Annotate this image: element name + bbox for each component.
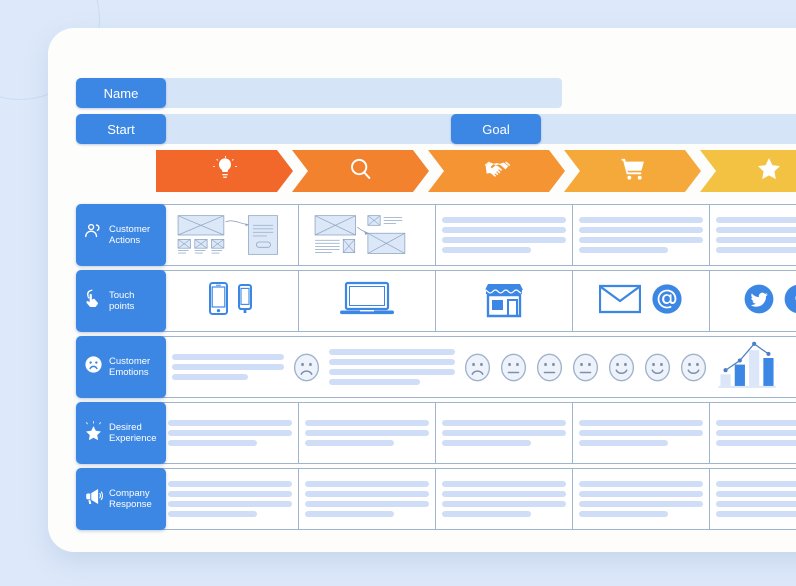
placeholder-line [305,440,394,446]
placeholder-line [305,491,429,497]
stage-chevron-bar [156,150,796,192]
row-label-text: DesiredExperience [109,422,157,444]
placeholder-lines [579,217,703,253]
sad-face-icon[interactable] [464,353,491,382]
happy-face-icon[interactable] [680,353,707,382]
facebook-icon[interactable] [784,284,796,319]
placeholder-line [442,247,531,253]
cell-company-response-2[interactable] [299,469,436,529]
touchpoint-icon-group [168,282,292,320]
table-row: CustomerActions [76,204,796,266]
placeholder-line [172,364,284,370]
cell-company-response-1[interactable] [162,469,299,529]
goal-field-row: Goal [451,114,796,144]
placeholder-lines [329,349,455,385]
laptop-icon[interactable] [339,281,395,322]
row-label-line2: Response [109,499,152,510]
row-label-customer-actions[interactable]: CustomerActions [76,204,166,266]
table-row: CustomerEmotions [76,336,796,398]
name-field-row: Name [76,78,562,108]
cell-customer-actions-1[interactable] [162,205,299,265]
placeholder-lines [716,420,796,446]
placeholder-lines [716,481,796,517]
mobile-phone-icon[interactable] [238,284,252,319]
placeholder-line [305,420,429,426]
cell-touch-points-2[interactable] [299,271,436,331]
start-label: Start [76,114,166,144]
stage-5-star[interactable] [700,150,796,192]
tap-hand-icon [84,289,103,313]
at-sign-icon[interactable] [651,283,683,320]
row-label-line2: Experience [109,433,157,444]
placeholder-line [579,501,703,507]
placeholder-line [579,481,703,487]
placeholder-lines [579,420,703,446]
stage-4-shopping-cart[interactable] [564,150,701,192]
magnifier-icon [348,156,374,187]
placeholder-line [329,369,455,375]
row-label-desired-experience[interactable]: DesiredExperience [76,402,166,464]
star-sparkle-icon [84,421,103,445]
placeholder-line [305,430,429,436]
placeholder-lines [579,481,703,517]
cell-desired-experience-4[interactable] [573,403,710,463]
placeholder-line [168,481,292,487]
cell-company-response-3[interactable] [436,469,573,529]
placeholder-line [168,440,257,446]
row-label-company-response[interactable]: CompanyResponse [76,468,166,530]
placeholder-line [172,374,248,380]
stage-2-magnifier[interactable] [292,150,429,192]
envelope-icon[interactable] [599,284,641,319]
placeholder-line [716,501,796,507]
cell-touch-points-3[interactable] [436,271,573,331]
placeholder-line [329,379,420,385]
placeholder-lines [172,354,284,380]
placeholder-line [579,491,703,497]
cell-desired-experience-2[interactable] [299,403,436,463]
cell-desired-experience-3[interactable] [436,403,573,463]
lightbulb-icon [212,156,238,187]
placeholder-line [329,359,455,365]
placeholder-line [579,440,668,446]
smartphone-icon[interactable] [209,282,228,320]
placeholder-line [305,481,429,487]
placeholder-line [716,217,796,223]
name-label: Name [76,78,166,108]
cell-desired-experience-5[interactable] [710,403,796,463]
placeholder-lines [305,481,429,517]
placeholder-lines [716,217,796,253]
row-label-touch-points[interactable]: Touchpoints [76,270,166,332]
cell-touch-points-1[interactable] [162,271,299,331]
row-label-text: CustomerEmotions [109,356,150,378]
placeholder-line [716,237,796,243]
row-label-line1: Company [109,488,152,499]
placeholder-lines [442,217,566,253]
placeholder-line [442,511,531,517]
journey-map-card: Name Start Goal CustomerActionsTouchpoin… [48,28,796,552]
megaphone-icon [84,487,103,511]
row-label-line1: Customer [109,356,150,367]
placeholder-line [579,420,703,426]
placeholder-line [716,491,796,497]
table-row: CompanyResponse [76,468,796,530]
placeholder-line [442,491,566,497]
wireframe-sketch [305,213,429,257]
row-label-customer-emotions[interactable]: CustomerEmotions [76,336,166,398]
cell-company-response-4[interactable] [573,469,710,529]
stage-3-handshake[interactable] [428,150,565,192]
row-label-line2: Emotions [109,367,150,378]
neutral-face-icon[interactable] [536,353,563,382]
placeholder-line [442,501,566,507]
placeholder-line [579,217,703,223]
placeholder-line [442,420,566,426]
row-cells [162,402,796,464]
placeholder-line [442,217,566,223]
touchpoint-icon-group [716,284,796,319]
sad-face-icon [84,355,103,379]
placeholder-lines [168,481,292,517]
placeholder-line [716,430,796,436]
neutral-face-icon[interactable] [572,353,599,382]
table-row: DesiredExperience [76,402,796,464]
wireframe-sketch [168,213,292,257]
placeholder-line [168,430,292,436]
row-label-line1: Desired [109,422,157,433]
placeholder-line [442,227,566,233]
cell-customer-actions-5[interactable] [710,205,796,265]
row-label-text: CustomerActions [109,224,150,246]
placeholder-line [716,481,796,487]
row-cells [162,270,796,332]
storefront-icon[interactable] [483,280,525,323]
touchpoint-icon-group [305,281,429,322]
name-input[interactable] [162,78,562,108]
cell-touch-points-5[interactable] [710,271,796,331]
placeholder-line [329,349,455,355]
placeholder-line [716,227,796,233]
row-cells [162,204,796,266]
placeholder-line [579,237,703,243]
placeholder-line [305,501,429,507]
stage-1-lightbulb[interactable] [156,150,293,192]
goal-label: Goal [451,114,541,144]
placeholder-line [168,511,257,517]
placeholder-line [168,501,292,507]
row-label-line1: Customer [109,224,150,235]
table-row: Touchpoints [76,270,796,332]
users-icon [84,223,103,247]
cell-touch-points-4[interactable] [573,271,710,331]
row-label-line1: Touch [109,290,134,301]
placeholder-line [716,440,796,446]
cell-customer-actions-3[interactable] [436,205,573,265]
placeholder-line [442,440,531,446]
neutral-face-icon[interactable] [500,353,527,382]
start-input[interactable] [162,114,467,144]
touchpoint-icon-group [442,280,566,323]
start-field-row: Start [76,114,467,144]
goal-input[interactable] [537,114,796,144]
placeholder-line [716,247,796,253]
placeholder-line [168,491,292,497]
placeholder-line [716,420,796,426]
trend-bar-chart [716,341,778,394]
row-label-text: CompanyResponse [109,488,152,510]
placeholder-line [716,511,796,517]
placeholder-line [172,354,284,360]
touchpoint-icon-group [579,283,703,320]
journey-table: CustomerActionsTouchpointsCustomerEmotio… [76,204,796,534]
placeholder-line [579,511,668,517]
placeholder-lines [168,420,292,446]
handshake-icon [484,156,510,187]
star-icon [756,156,782,187]
row-cells [162,336,796,398]
row-label-line2: points [109,301,134,312]
placeholder-line [442,430,566,436]
placeholder-line [442,237,566,243]
happy-face-icon[interactable] [608,353,635,382]
twitter-icon[interactable] [744,284,774,319]
placeholder-line [579,227,703,233]
row-cells [162,468,796,530]
row-label-text: Touchpoints [109,290,134,312]
placeholder-line [168,420,292,426]
placeholder-line [579,247,668,253]
cell-desired-experience-1[interactable] [162,403,299,463]
placeholder-lines [442,481,566,517]
placeholder-lines [442,420,566,446]
cell-customer-actions-4[interactable] [573,205,710,265]
emotion-strip [162,337,796,397]
row-label-line2: Actions [109,235,150,246]
placeholder-line [305,511,394,517]
cell-company-response-5[interactable] [710,469,796,529]
placeholder-line [579,430,703,436]
happy-face-icon[interactable] [644,353,671,382]
placeholder-lines [305,420,429,446]
placeholder-line [442,481,566,487]
shopping-cart-icon [620,156,646,187]
sad-face-icon[interactable] [293,353,320,382]
cell-customer-actions-2[interactable] [299,205,436,265]
